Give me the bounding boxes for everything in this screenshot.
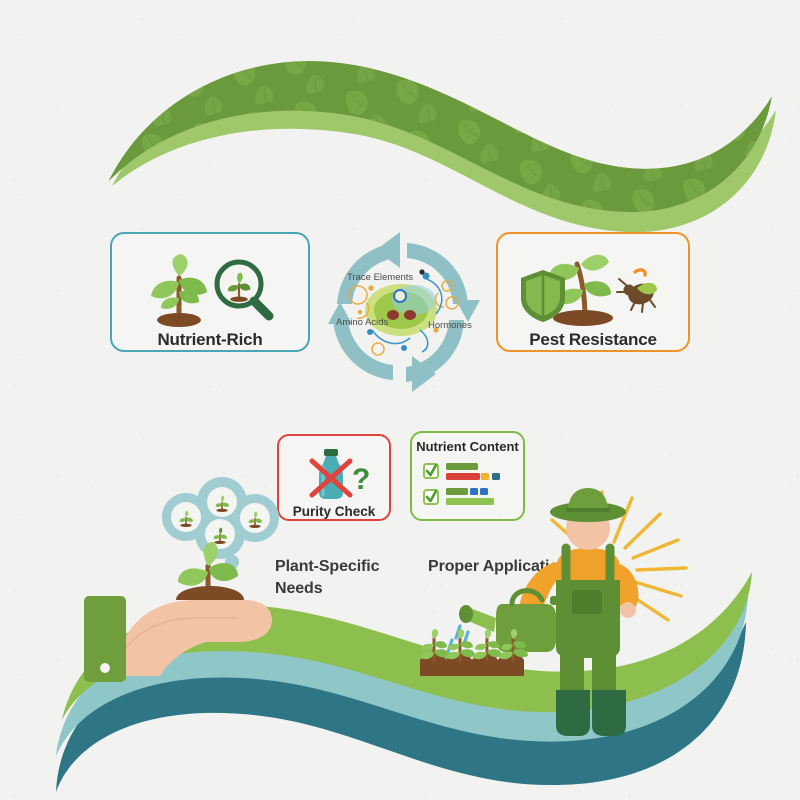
infographic-canvas: Trace Elements Amino Acids Hormones [0,0,800,800]
seedling-row-icon [420,629,528,676]
farmer-watering-illustration [0,0,800,800]
